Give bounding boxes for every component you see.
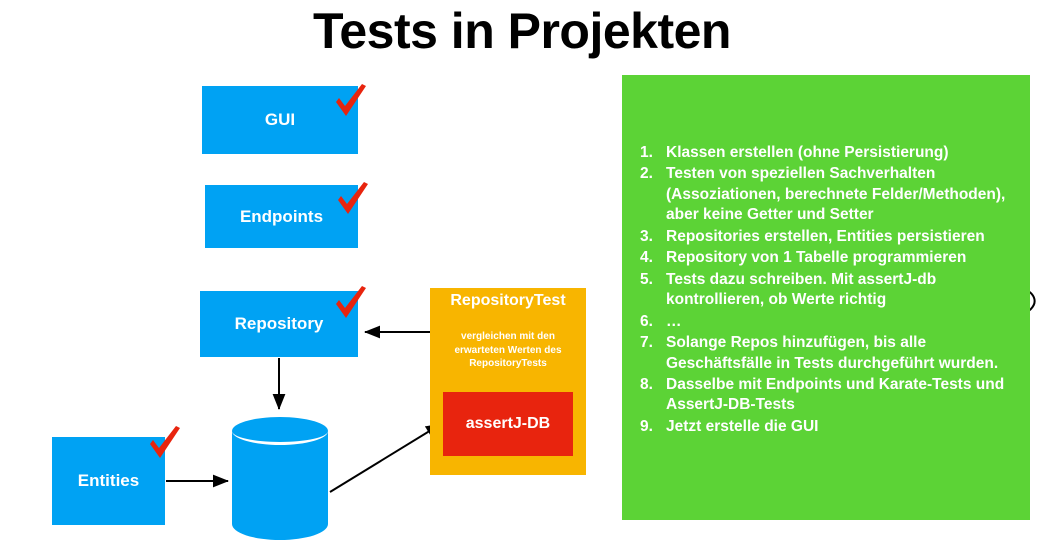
step-text: Jetzt erstelle die GUI [666, 417, 1030, 437]
step-number: 6. [640, 312, 666, 332]
node-repository-label: Repository [235, 314, 324, 334]
node-gui[interactable]: GUI [202, 86, 358, 154]
step-text: Tests dazu schreiben. Mit assertJ-db kon… [666, 270, 1030, 311]
cylinder-body [232, 431, 328, 540]
step-number: 3. [640, 227, 666, 247]
node-endpoints[interactable]: Endpoints [205, 185, 358, 248]
step-number: 8. [640, 375, 666, 416]
step-item: 7.Solange Repos hinzufügen, bis alle Ges… [640, 333, 1030, 374]
step-number: 2. [640, 164, 666, 225]
step-item: 4.Repository von 1 Tabelle programmieren [640, 248, 1030, 268]
node-endpoints-label: Endpoints [240, 207, 323, 227]
node-repository[interactable]: Repository [200, 291, 358, 357]
step-item: 3.Repositories erstellen, Entities persi… [640, 227, 1030, 247]
assertj-db-label: assertJ-DB [466, 415, 550, 433]
steps-panel: 1.Klassen erstellen (ohne Persistierung)… [622, 75, 1030, 520]
step-text: Testen von speziellen Sachverhalten (Ass… [666, 164, 1030, 225]
step-text: Dasselbe mit Endpoints und Karate-Tests … [666, 375, 1030, 416]
page-title: Tests in Projekten [0, 2, 1044, 60]
node-entities[interactable]: Entities [52, 437, 165, 525]
repository-test-description: vergleichen mit den erwarteten Werten de… [436, 330, 580, 371]
step-item: 5.Tests dazu schreiben. Mit assertJ-db k… [640, 270, 1030, 311]
node-entities-label: Entities [78, 471, 139, 491]
step-text: Solange Repos hinzufügen, bis alle Gesch… [666, 333, 1030, 374]
database-cylinder-icon [232, 417, 328, 540]
node-gui-label: GUI [265, 110, 295, 130]
step-item: 9.Jetzt erstelle die GUI [640, 417, 1030, 437]
repository-test-title: RepositoryTest [430, 292, 586, 310]
steps-list: 1.Klassen erstellen (ohne Persistierung)… [640, 143, 1030, 438]
step-number: 4. [640, 248, 666, 268]
step-item: 1.Klassen erstellen (ohne Persistierung) [640, 143, 1030, 163]
step-item: 8.Dasselbe mit Endpoints und Karate-Test… [640, 375, 1030, 416]
step-number: 9. [640, 417, 666, 437]
step-text: Klassen erstellen (ohne Persistierung) [666, 143, 1030, 163]
step-item: 2.Testen von speziellen Sachverhalten (A… [640, 164, 1030, 225]
slide-canvas: Tests in Projekten GUI Endpoints Reposit… [0, 0, 1044, 540]
step-text: Repository von 1 Tabelle programmieren [666, 248, 1030, 268]
cylinder-top [232, 417, 328, 445]
node-assertj-db[interactable]: assertJ-DB [443, 392, 573, 456]
step-number: 5. [640, 270, 666, 311]
step-number: 1. [640, 143, 666, 163]
step-item: 6.… [640, 312, 1030, 332]
step-text: Repositories erstellen, Entities persist… [666, 227, 1030, 247]
node-repository-test[interactable]: RepositoryTest vergleichen mit den erwar… [430, 288, 586, 475]
step-text: … [666, 312, 1030, 332]
arrow-database-to-assertj [330, 424, 441, 492]
step-number: 7. [640, 333, 666, 374]
